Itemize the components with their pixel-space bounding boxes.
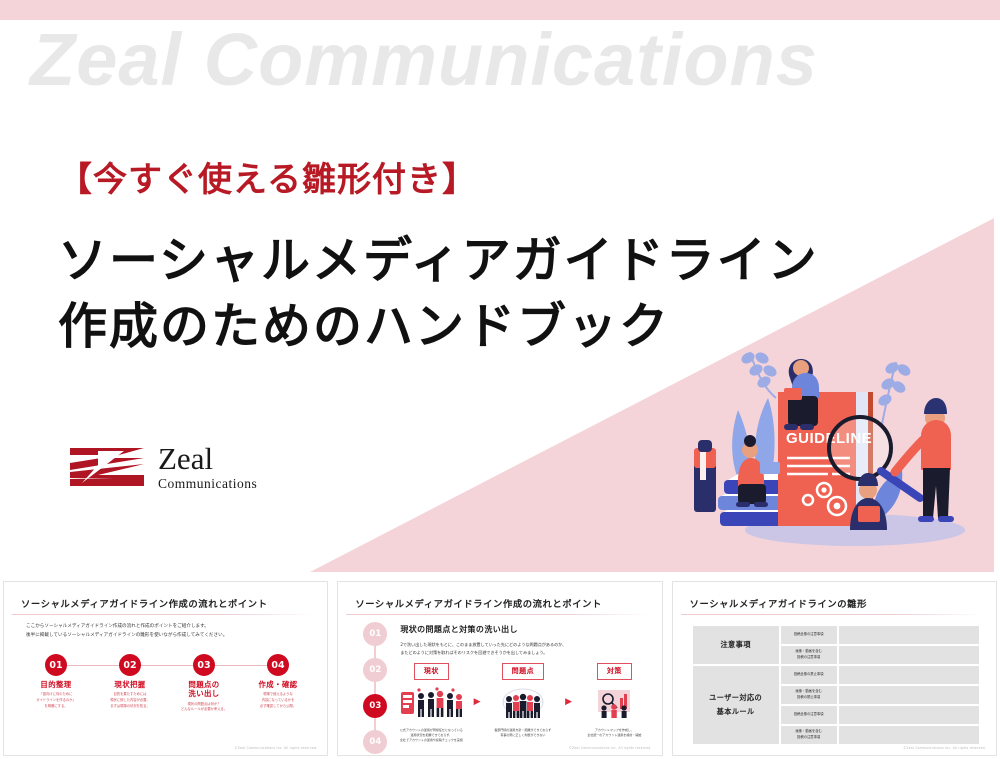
step-item-04: 04 作成・確認 現場で使えるような 内容になっているかを 必ず確認してから公開… — [244, 654, 312, 716]
thumbnail-card-flow-overview[interactable]: ソーシャルメディアガイドライン作成の流れとポイント ここからソーシャルメディアガ… — [3, 581, 328, 756]
flow-caption: 各部門間の運用方針・把握ができておらず 有事の際に正しく判断ができない — [487, 728, 559, 739]
analysis-board-icon — [578, 686, 650, 720]
step-description: 現場で使えるような 内容になっているかを 必ず確認してから公開。 — [244, 692, 312, 709]
zeal-logo-mark-icon — [68, 445, 146, 489]
table-blank-cell[interactable] — [839, 626, 979, 644]
step-description: 現状の問題点は何か？ どんなルールが必要か考える。 — [170, 702, 238, 714]
card-title: ソーシャルメディアガイドライン作成の流れとポイント — [21, 596, 268, 610]
table-sub-cell: 投稿全般の禁止事項 — [781, 666, 837, 684]
step-number-badge: 04 — [267, 654, 289, 676]
step-item-02: 02 現状把握 目的を果たすためには 現状に即した内容が必要。 まずは現場の状況… — [96, 654, 164, 716]
thumbnail-card-problem-analysis[interactable]: ソーシャルメディアガイドライン作成の流れとポイント 01 02 03 04 現状… — [337, 581, 662, 756]
stepper-dot-03: 03 — [363, 694, 387, 718]
step-number-badge: 01 — [45, 654, 67, 676]
step-description: 「誰向けに何のために ガイドラインを作るのか」 を明確にする。 — [22, 692, 90, 709]
step-label-line1: 問題点の — [170, 680, 238, 689]
flow-label: 現状 — [414, 663, 449, 680]
step-desc-line2: どんなルールが必要か考える。 — [170, 707, 238, 713]
people-group-icon — [395, 686, 467, 720]
step-desc-line3: 必ず確認してから公開。 — [244, 704, 312, 710]
flow-item-problem: 問題点 各部門間の運用方針・把握ができておらず — [487, 660, 559, 738]
flow-arrow-2: ▶ — [559, 660, 579, 707]
table-row: 注意事項 投稿全般の注意事項 — [693, 626, 979, 644]
table-sub-cell: 画像・動画を含む投稿の禁止事項 — [781, 686, 837, 704]
guideline-illustration: GUIDELINE — [680, 340, 1000, 570]
step-description: 目的を果たすためには 現状に即した内容が必要。 まずは現場の状況を知る。 — [96, 692, 164, 709]
page-title-line1: ソーシャルメディアガイドライン — [58, 228, 819, 294]
table-head-cell: 注意事項 — [693, 626, 779, 664]
hero-slide: Zeal Communications 【今すぐ使える雛形付き】 ソーシャルメデ… — [0, 0, 1000, 572]
step-item-03: 03 問題点の 洗い出し 現状の問題点は何か？ どんなルールが必要か考える。 — [170, 654, 238, 716]
table-blank-cell[interactable] — [839, 686, 979, 704]
flow-caption: 公式アカウントの運用が現場任せになっている 運用状況を把握できておらず、 全社で… — [395, 728, 467, 744]
table-blank-cell[interactable] — [839, 706, 979, 724]
flow-arrow-1: ▶ — [467, 660, 487, 707]
stepper-dot-04: 04 — [363, 730, 387, 754]
card-title: ソーシャルメディアガイドラインの雛形 — [690, 596, 867, 610]
logo-subtitle: Communications — [158, 477, 257, 491]
table-sub-cell: 画像・動画を含む投稿の注意事項 — [781, 726, 837, 744]
card-title: ソーシャルメディアガイドライン作成の流れとポイント — [355, 596, 602, 610]
card-body-text: 2で洗い出した現状をもとに、このまま放置していった先にどのような問題点があるのか… — [400, 641, 645, 657]
card-title-rule — [681, 614, 983, 615]
card-body-text: ここからソーシャルメディアガイドライン作成の流れと作成のポイントをご紹介します。… — [26, 623, 306, 641]
zeal-logo-text: Zeal Communications — [158, 443, 257, 491]
flow-label: 問題点 — [502, 663, 545, 680]
flow-label: 対策 — [597, 663, 632, 680]
thumbnail-card-template-table[interactable]: ソーシャルメディアガイドラインの雛形 注意事項 投稿全般の注意事項 画像・動画を… — [672, 581, 997, 756]
template-table: 注意事項 投稿全般の注意事項 画像・動画を含む投稿の注意事項 ユーザー対応の 基… — [691, 624, 981, 746]
vertical-stepper: 01 02 03 04 — [363, 622, 387, 742]
card-copyright: ©Zeal Communications Inc. All rights res… — [569, 746, 652, 750]
flow-caption-line2: 全社統一のアカウント運用を検討・開始 — [578, 733, 650, 738]
card-body-line1: ここからソーシャルメディアガイドライン作成の流れと作成のポイントをご紹介します。 — [26, 623, 306, 632]
table-sub-cell: 画像・動画を含む投稿の注意事項 — [781, 646, 837, 664]
card-body-line2: 後半に掲載しているソーシャルメディアガイドラインの雛形を使いながら作成してみてく… — [26, 632, 306, 641]
step-label: 作成・確認 — [244, 680, 312, 689]
flow-caption: アカウントマップを作成し、 全社統一のアカウント運用を検討・開始 — [578, 728, 650, 739]
step-number-badge: 03 — [193, 654, 215, 676]
card-title-rule — [12, 614, 314, 615]
table-blank-cell[interactable] — [839, 726, 979, 744]
stepper-dot-02: 02 — [363, 658, 387, 682]
logo-name: Zeal — [158, 443, 257, 474]
step-number-badge: 02 — [119, 654, 141, 676]
flow-diagram: 現状 — [395, 660, 650, 744]
step-desc-line3: まずは現場の状況を知る。 — [96, 704, 164, 710]
card-copyright: ©Zeal Communications Inc. All rights res… — [903, 746, 986, 750]
card-title-rule — [346, 614, 648, 615]
card-copyright: ©Zeal Communications Inc. All rights res… — [234, 746, 317, 750]
step-label: 目的整理 — [22, 680, 90, 689]
people-meeting-icon — [487, 686, 559, 720]
step-label: 問題点の 洗い出し — [170, 680, 238, 699]
flow-caption-line3: 全社でアカウントの運用や投稿チェックを実施 — [395, 738, 467, 743]
watermark-text: Zeal Communications — [30, 17, 818, 102]
card-body-line2: またどのように対策を取ればそのリスクを回避できそうかを出してみましょう。 — [400, 649, 645, 657]
flow-caption-line2: 有事の際に正しく判断ができない — [487, 733, 559, 738]
step-label: 現状把握 — [96, 680, 164, 689]
table-sub-cell: 投稿全般の注意事項 — [781, 626, 837, 644]
step-desc-line3: を明確にする。 — [22, 704, 90, 710]
flow-item-countermeasure: 対策 アカウントマップを作成し、 — [578, 660, 650, 738]
table-blank-cell[interactable] — [839, 646, 979, 664]
step-list: 01 目的整理 「誰向けに何のために ガイドラインを作るのか」 を明確にする。 … — [22, 654, 312, 716]
card-body-line1: 2で洗い出した現状をもとに、このまま放置していった先にどのような問題点があるのか… — [400, 641, 645, 649]
table-head-line2: 基本ルール — [693, 705, 779, 719]
zeal-logo: Zeal Communications — [68, 443, 257, 491]
thumbnail-strip: ソーシャルメディアガイドライン作成の流れとポイント ここからソーシャルメディアガ… — [0, 581, 1000, 759]
stepper-dot-01: 01 — [363, 622, 387, 646]
step-item-01: 01 目的整理 「誰向けに何のために ガイドラインを作るのか」 を明確にする。 — [22, 654, 90, 716]
table-sub-cell: 投稿全般の注意事項 — [781, 706, 837, 724]
table-blank-cell[interactable] — [839, 666, 979, 684]
step-label-line2: 洗い出し — [170, 689, 238, 698]
kicker-label: 【今すぐ使える雛形付き】 — [58, 152, 477, 201]
table-head-line1: ユーザー対応の — [693, 691, 779, 705]
table-head-cell: ユーザー対応の 基本ルール — [693, 666, 779, 744]
flow-item-current: 現状 — [395, 660, 467, 744]
table-row: ユーザー対応の 基本ルール 投稿全般の禁止事項 — [693, 666, 979, 684]
card-heading: 現状の問題点と対策の洗い出し — [400, 624, 518, 635]
